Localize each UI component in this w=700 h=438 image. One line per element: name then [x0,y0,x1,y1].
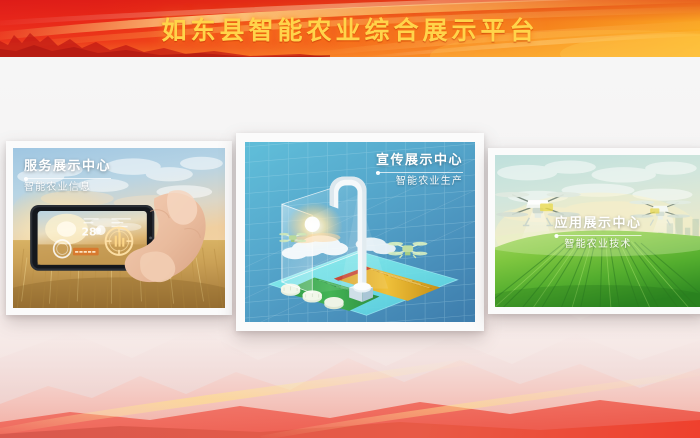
card-service-title: 服务展示中心 [24,160,111,173]
card-promotion-text-block: 宣传展示中心 智能农业生产 [376,154,463,187]
card-promotion-divider [376,172,463,173]
header-banner: 如东县智能农业综合展示平台 [0,0,700,57]
page-title: 如东县智能农业综合展示平台 [0,0,700,57]
card-service-subtitle: 智能农业信息 [24,183,111,193]
card-application-text-block: 应用展示中心 智能农业技术 [554,217,641,250]
card-service-image: 28° [13,148,225,308]
card-promotion-image: 宣传展示中心 智能农业生产 [245,142,475,322]
card-application-divider [554,235,641,236]
card-application-title: 应用展示中心 [554,217,641,230]
card-service-display-center[interactable]: 28° [6,141,232,315]
page-root: 如东县智能农业综合展示平台 [0,0,700,438]
card-service-text-block: 服务展示中心 智能农业信息 [24,160,111,193]
card-application-image: 应用展示中心 智能农业技术 [495,155,700,307]
card-application-display-center[interactable]: 应用展示中心 智能农业技术 [488,148,700,314]
card-promotion-title: 宣传展示中心 [376,154,463,167]
card-promotion-subtitle: 智能农业生产 [376,177,463,187]
card-service-divider [24,178,111,179]
card-promotion-display-center[interactable]: 宣传展示中心 智能农业生产 [236,133,484,331]
card-application-subtitle: 智能农业技术 [554,240,641,250]
